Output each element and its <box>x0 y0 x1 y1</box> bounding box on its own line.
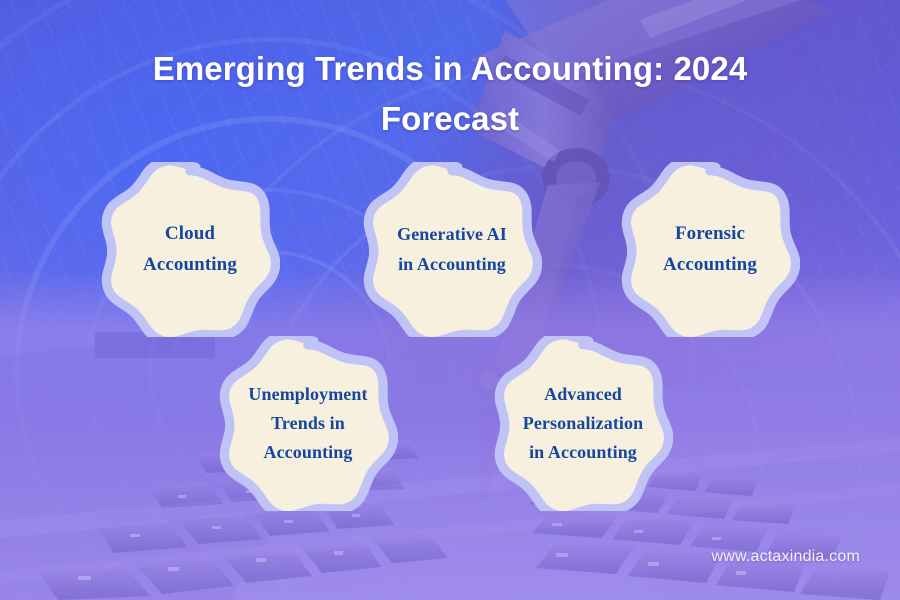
page-title: Emerging Trends in Accounting: 2024 Fore… <box>90 44 810 144</box>
trend-badge-cloud-accounting[interactable]: Cloud Accounting <box>100 162 280 337</box>
trend-badge-unemployment-trends[interactable]: Unemployment Trends in Accounting <box>218 336 398 511</box>
infographic-poster: Emerging Trends in Accounting: 2024 Fore… <box>0 0 900 600</box>
trend-badge-forensic-accounting[interactable]: Forensic Accounting <box>620 162 800 337</box>
trend-badge-advanced-personalization[interactable]: Advanced Personalization in Accounting <box>493 336 673 511</box>
trend-badge-label: Advanced Personalization in Accounting <box>507 380 658 467</box>
trend-badge-label: Unemployment Trends in Accounting <box>232 380 383 467</box>
site-url[interactable]: www.actaxindia.com <box>711 548 860 566</box>
trend-badge-label: Forensic Accounting <box>640 219 780 281</box>
trend-badge-label: Cloud Accounting <box>120 219 260 281</box>
trend-badge-generative-ai-in-accounting[interactable]: Generative AI in Accounting <box>362 162 542 337</box>
trend-badge-label: Generative AI in Accounting <box>376 220 527 278</box>
